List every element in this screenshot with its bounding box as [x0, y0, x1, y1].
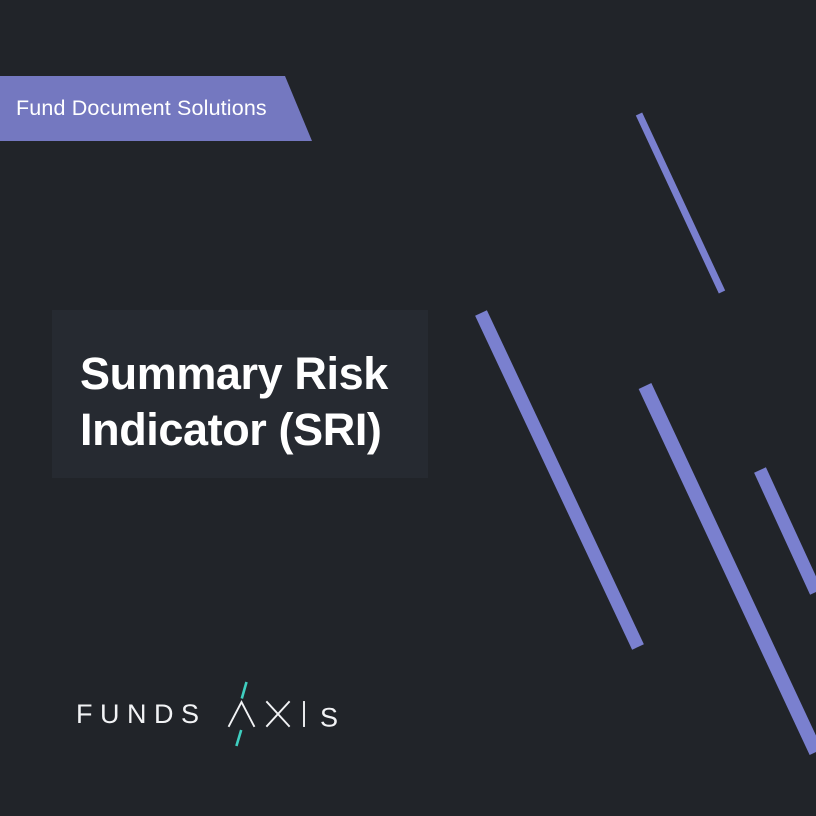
stripe-1	[639, 114, 722, 292]
ribbon-label: Fund Document Solutions	[0, 96, 267, 121]
page-title: Summary Risk Indicator (SRI)	[80, 346, 550, 458]
page-title-line-1: Summary Risk	[80, 346, 550, 402]
logo-letter-s: S	[320, 703, 338, 733]
slide-canvas: Fund Document Solutions Summary Risk Ind…	[0, 0, 816, 816]
fund-document-solutions-ribbon: Fund Document Solutions	[0, 76, 312, 141]
stripe-4	[760, 470, 816, 592]
logo-axis-mark: S	[221, 679, 359, 749]
teal-slash-icon	[236, 682, 246, 746]
funds-axis-logo: FUNDS S	[76, 694, 359, 734]
logo-word-funds: FUNDS	[76, 701, 207, 728]
stripe-3	[645, 386, 816, 752]
page-title-line-2: Indicator (SRI)	[80, 402, 550, 458]
